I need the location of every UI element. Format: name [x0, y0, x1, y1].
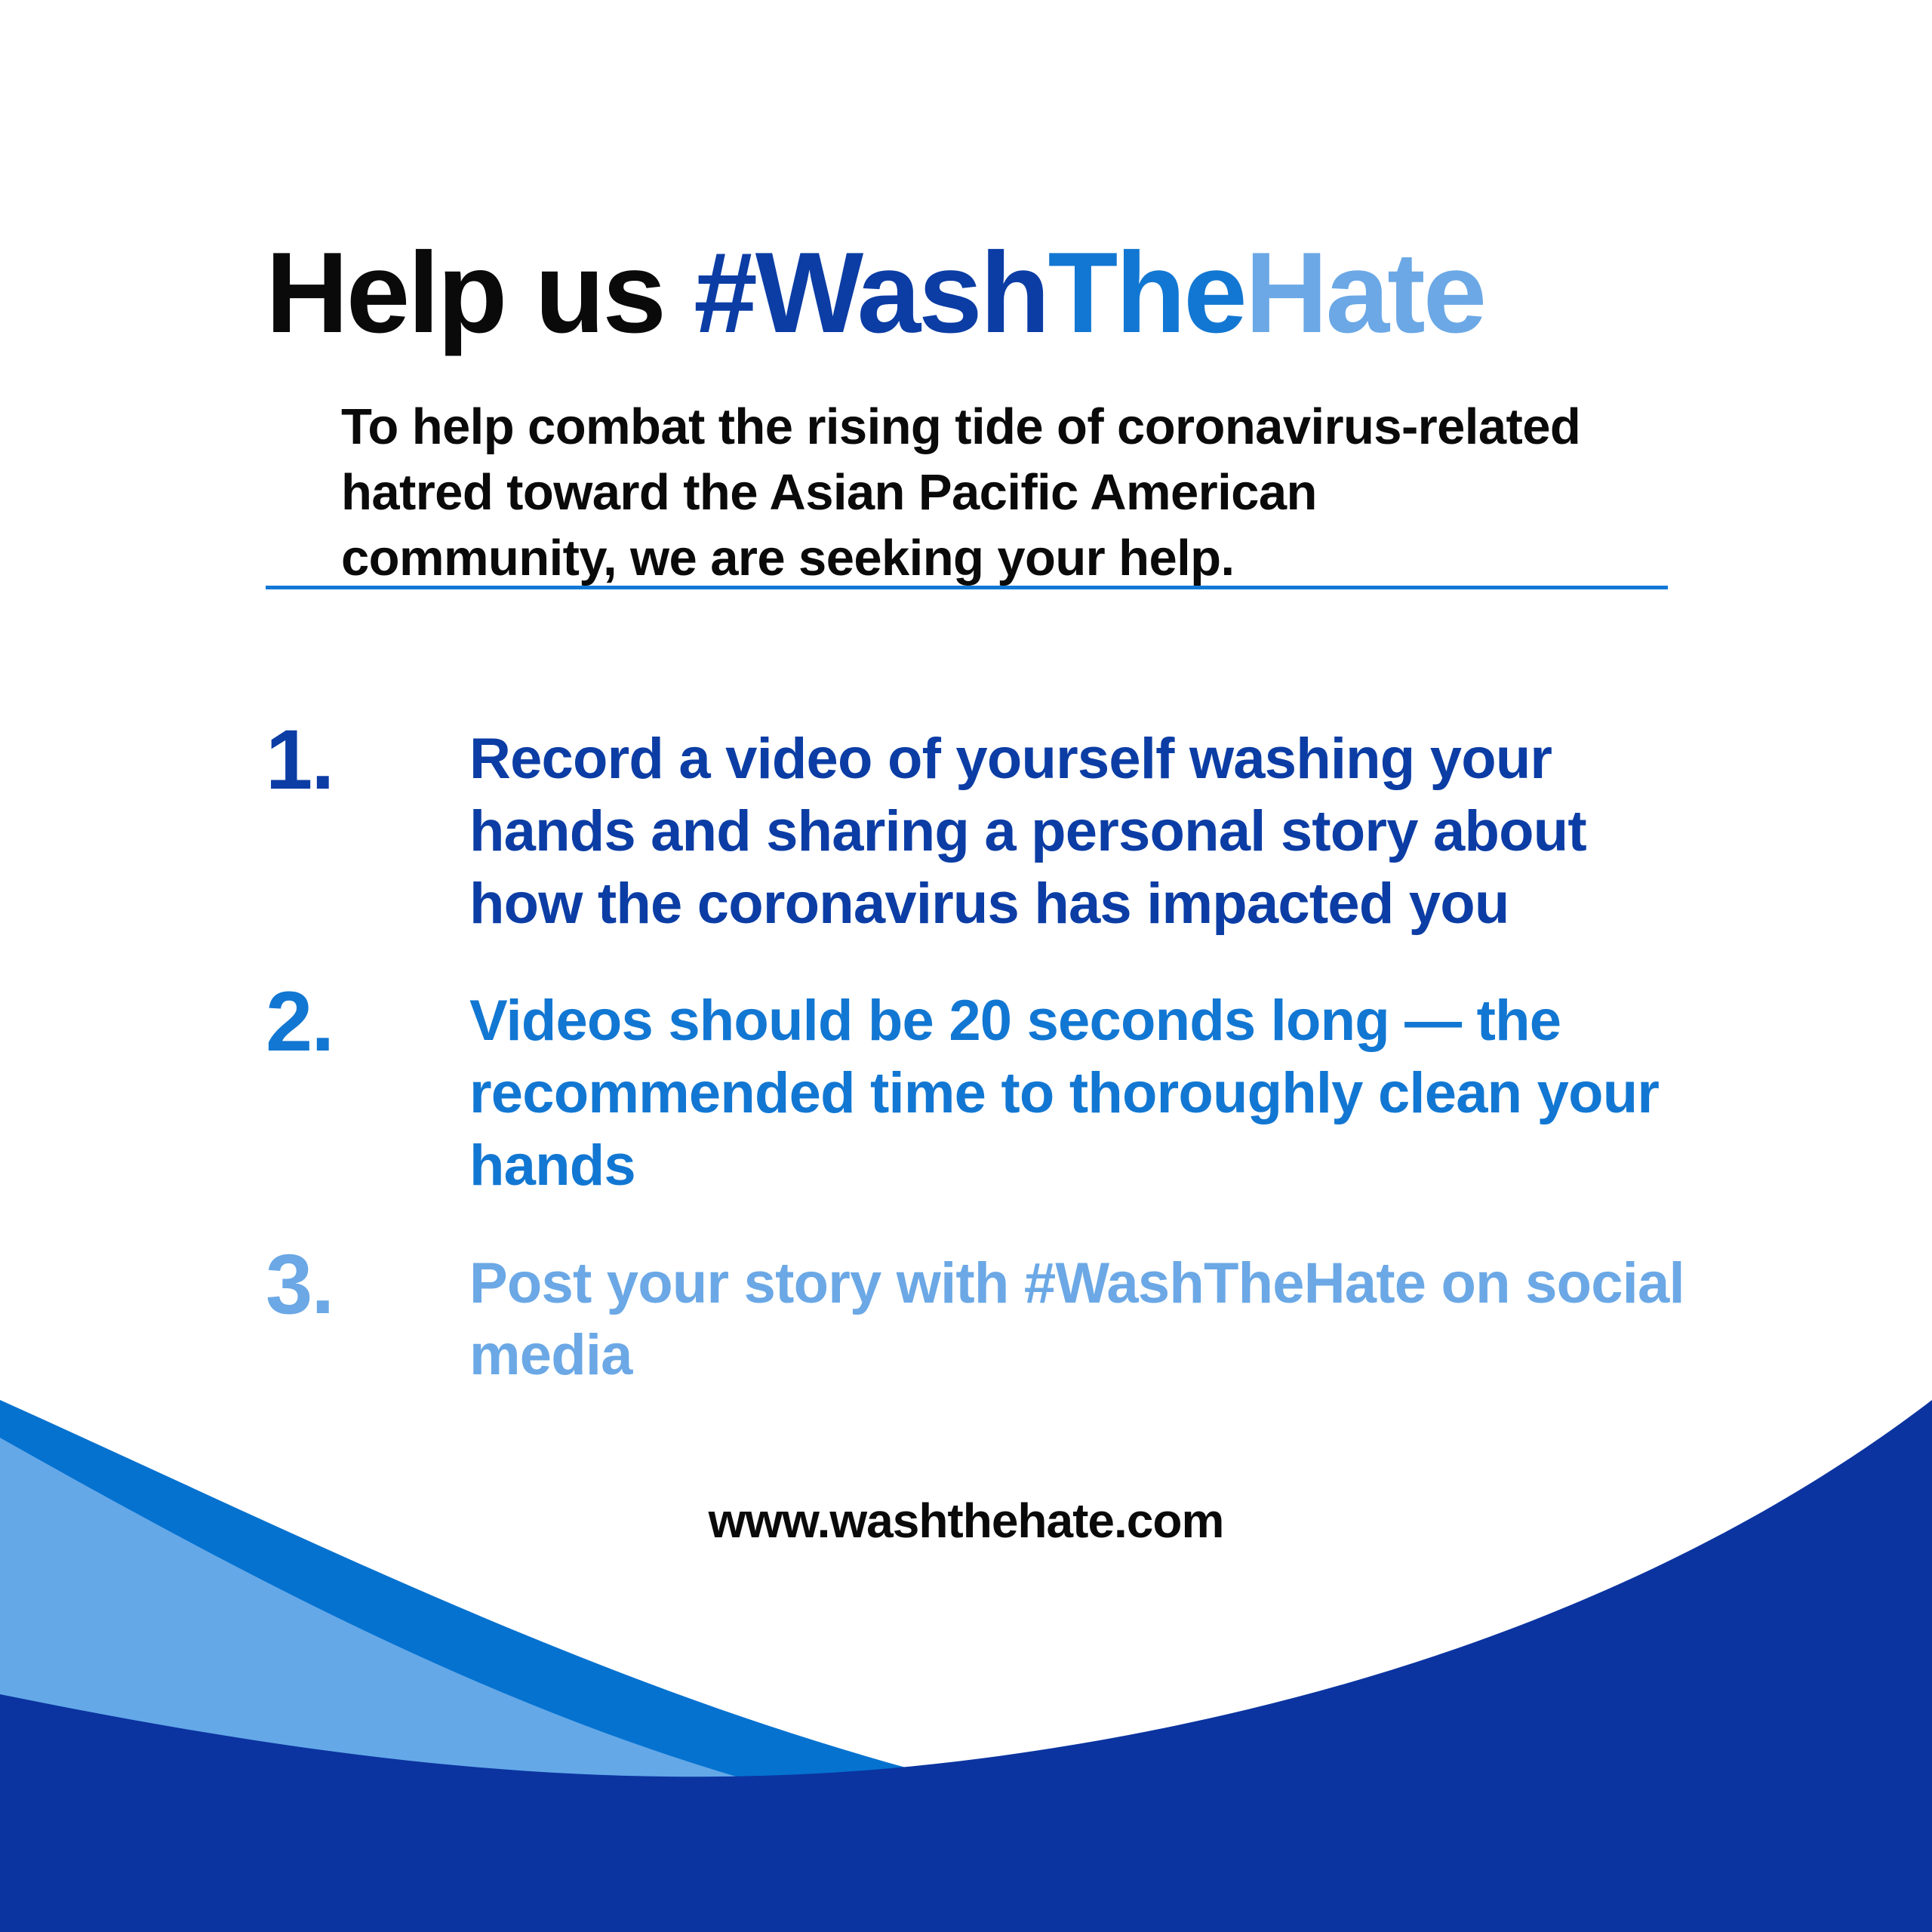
- headline-part-wash: #Wash: [694, 229, 1048, 357]
- list-item: 1. Record a video of yourself washing yo…: [266, 717, 1700, 940]
- horizontal-divider: [266, 586, 1668, 589]
- headline-part-help-us: Help us: [266, 229, 694, 357]
- list-item: 3. Post your story with #WashTheHate on …: [266, 1241, 1700, 1392]
- step-text: Post your story with #WashTheHate on soc…: [469, 1241, 1700, 1392]
- subtitle-text: To help combat the rising tide of corona…: [341, 394, 1586, 591]
- step-number: 1.: [266, 717, 469, 803]
- step-number: 3.: [266, 1241, 469, 1327]
- headline-part-hate: Hate: [1245, 229, 1484, 357]
- website-url[interactable]: www.washthehate.com: [0, 1493, 1932, 1549]
- steps-list: 1. Record a video of yourself washing yo…: [266, 717, 1700, 1431]
- page-title: Help us #WashTheHate: [266, 235, 1700, 350]
- washthehate-poster: Help us #WashTheHate To help combat the …: [0, 0, 1932, 1932]
- step-text: Record a video of yourself washing your …: [469, 717, 1700, 940]
- list-item: 2. Videos should be 20 seconds long — th…: [266, 979, 1700, 1201]
- step-number: 2.: [266, 979, 469, 1065]
- step-text: Videos should be 20 seconds long — the r…: [469, 979, 1700, 1201]
- headline-part-the: The: [1048, 229, 1245, 357]
- poster-content: Help us #WashTheHate To help combat the …: [0, 0, 1932, 1932]
